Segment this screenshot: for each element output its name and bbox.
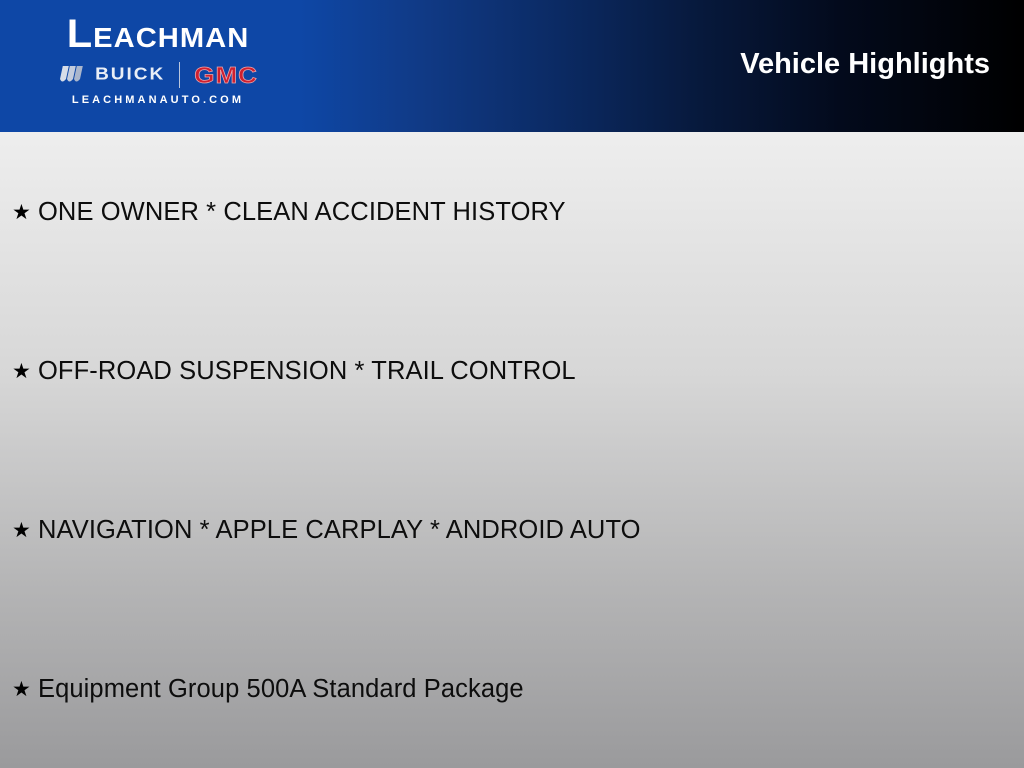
logo-wordmark-leachman: Leachman [19, 10, 298, 58]
dealership-logo[interactable]: Leachman BUICK GMC LEACHMANAUTO.COM [24, 10, 292, 125]
list-item: ★ Equipment Group 500A Standard Package [12, 669, 1012, 709]
brand-divider [179, 62, 180, 88]
vehicle-highlights-page: Leachman BUICK GMC LEACHMANAUTO.COM [0, 0, 1024, 768]
logo-website-url[interactable]: LEACHMANAUTO.COM [24, 94, 292, 106]
highlight-text: OFF-ROAD SUSPENSION * TRAIL CONTROL [38, 357, 576, 386]
star-icon: ★ [12, 679, 38, 700]
star-icon: ★ [12, 361, 38, 382]
highlight-text: NAVIGATION * APPLE CARPLAY * ANDROID AUT… [38, 516, 641, 545]
buick-tri-shield-icon [58, 65, 88, 86]
list-item: ★ ONE OWNER * CLEAN ACCIDENT HISTORY [12, 192, 1012, 232]
brand-label-gmc: GMC [194, 61, 258, 89]
header-banner: Leachman BUICK GMC LEACHMANAUTO.COM [0, 0, 1024, 132]
brand-label-buick: BUICK [95, 65, 165, 85]
highlight-text: ONE OWNER * CLEAN ACCIDENT HISTORY [38, 198, 566, 227]
highlight-text: Equipment Group 500A Standard Package [38, 675, 524, 704]
star-icon: ★ [12, 520, 38, 541]
logo-brand-row: BUICK GMC [24, 60, 292, 90]
highlights-panel: ★ ONE OWNER * CLEAN ACCIDENT HISTORY ★ O… [0, 132, 1024, 768]
page-title: Vehicle Highlights [740, 48, 990, 81]
list-item: ★ OFF-ROAD SUSPENSION * TRAIL CONTROL [12, 351, 1012, 391]
star-icon: ★ [12, 202, 38, 223]
list-item: ★ NAVIGATION * APPLE CARPLAY * ANDROID A… [12, 510, 1012, 550]
